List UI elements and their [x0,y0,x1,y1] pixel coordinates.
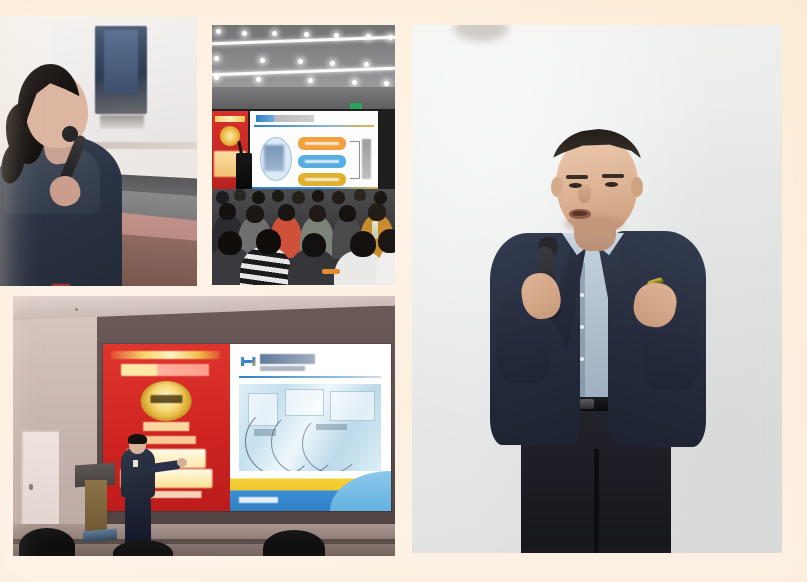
collage-canvas [0,0,807,582]
slide-oval-label [264,145,284,171]
audience-head [350,231,376,257]
ceiling-spot-light [330,61,335,66]
ceiling-spot-light [216,29,221,34]
photo-speaker-female[interactable] [0,16,197,286]
ceiling-spot-light [366,34,371,39]
inset-tube-curve [302,414,361,471]
audience-head [332,191,345,204]
slide-gold-ribbon [111,351,220,359]
lectern-body [85,480,107,536]
slide-box-label [305,178,339,181]
screen-stand-shadow [100,115,144,129]
stage-red-accent [52,284,70,286]
photo-stage-talk[interactable] [13,296,395,556]
slide-box-orange [298,137,346,150]
ceiling-light-icon [75,308,78,311]
speaker-trouser-gap [594,449,599,553]
odin-wordmark [150,395,182,403]
banner-gold-strip [215,116,245,122]
hall-upper-wall [212,87,395,109]
slide-header-rule [254,125,374,127]
presenter-hand [177,458,187,467]
photo-audience[interactable] [212,25,395,285]
shirt-button [580,357,584,361]
audience-head [252,191,265,204]
audience-head [219,203,236,220]
audience-head [292,191,305,204]
speaker-ear-left [551,177,563,197]
company-name-en [260,366,305,371]
ceiling-spot-light [384,81,389,86]
speaker-eye-right [605,182,618,187]
ceiling-spot-light [298,59,303,64]
odin-logo-subtext [144,422,190,430]
audience-head [218,231,242,255]
audience-head [378,229,395,253]
speaker-mouth-open [572,211,587,216]
slide-white-panel [230,344,391,511]
side-door [21,430,59,536]
belt-buckle-icon [580,399,594,409]
audience-head [309,205,326,222]
shirt-button [580,293,584,297]
presenter-hair [128,434,147,444]
slide-logo [256,115,314,122]
speaker-nose [578,185,591,203]
audience-head [312,190,324,202]
speaker-brow-right [602,174,624,178]
slide-box-label [305,142,339,145]
audience-head [339,205,356,222]
audience-head [354,189,366,201]
ceiling-spot-light [352,80,357,85]
screen-inner-panel [104,30,138,94]
ceiling-spot-light [214,56,219,61]
odin-logo-icon [141,381,192,421]
audience-head [246,205,264,223]
ceiling-spot-light [260,58,265,63]
slide-right-label [362,139,371,179]
ceiling-spot-light [364,62,369,67]
audience-head [278,204,295,221]
company-name-cn [260,354,315,364]
presenter-body [121,448,155,498]
slide-box-gold [298,173,346,186]
ceiling-spot-light [388,35,393,40]
slide-header-rule [239,376,381,378]
ceiling-spot-light [304,32,309,37]
company-logo-icon [241,354,256,369]
ceiling-spot-light [272,31,277,36]
slide-tagline [121,364,210,376]
speaker-brow-left [566,175,588,179]
photo-speaker-male[interactable] [412,25,782,553]
presenter-badge [133,460,138,467]
audience-head [302,233,326,257]
audience-head [368,203,386,221]
microphone-head-icon [62,126,78,142]
ceiling-spot-light [214,75,219,80]
audience-head [256,229,281,254]
ceiling-spot-light [242,31,247,36]
presenter-legs [125,492,151,544]
ceiling-spot-light [334,33,339,38]
ceiling-spot-light [308,78,313,83]
product-photo-inset [239,384,381,471]
presentation-slide [250,111,378,195]
door-knob-icon[interactable] [29,484,33,490]
audience-head [272,190,284,202]
slide-box-blue [298,155,346,168]
speaker-ear-right [631,177,643,197]
slide-box-label [305,160,339,163]
slide-footer-url [239,497,278,503]
lanyard-badge [322,269,340,274]
slide-brace-connector [350,141,360,179]
shirt-button [580,325,584,329]
audience-head [234,189,246,201]
ceiling-spot-light [256,77,261,82]
